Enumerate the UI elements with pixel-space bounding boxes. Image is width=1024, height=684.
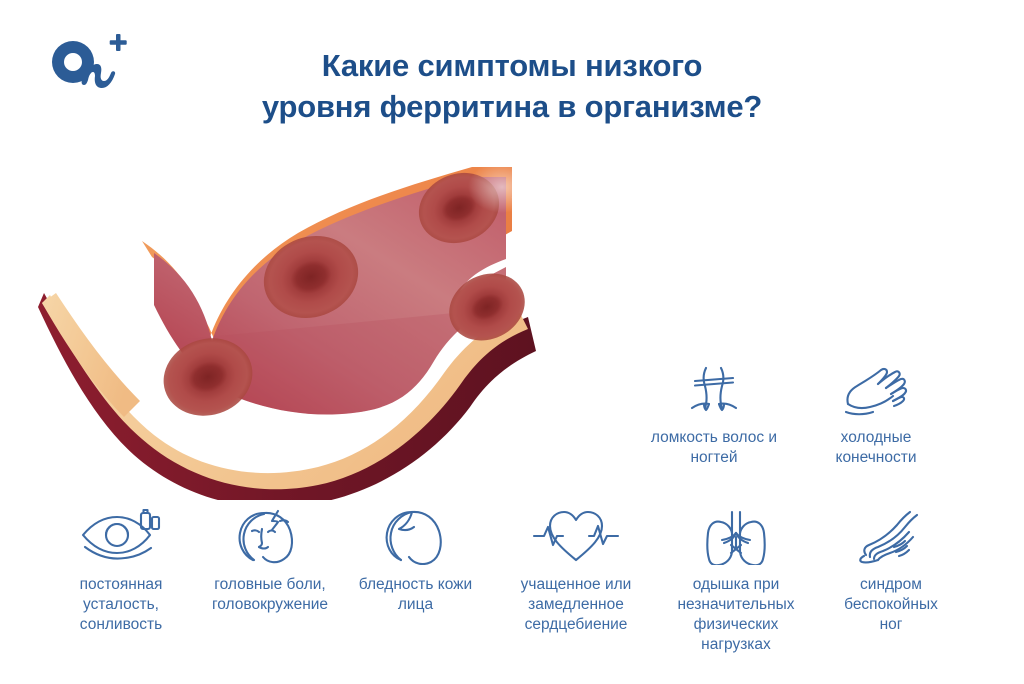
symptom-pale-facial-skin[interactable]: бледность кожи лица <box>338 505 493 615</box>
symptom-label-line-1: бледность кожи <box>338 575 493 595</box>
symptom-label-line-4: нагрузках <box>653 635 819 655</box>
symptom-label: постоянная усталость, сонливость <box>42 575 200 635</box>
symptom-cold-extremities[interactable]: холодные конечности <box>800 358 952 468</box>
head-pain-icon <box>190 505 350 567</box>
restless-leg-icon <box>812 505 970 567</box>
symptom-label: головные боли, головокружение <box>190 575 350 615</box>
symptom-label-line-2: усталость, <box>42 595 200 615</box>
page-title-line-1: Какие симптомы низкого <box>180 46 844 87</box>
rubbing-hands-icon <box>800 358 952 420</box>
symptom-label: бледность кожи лица <box>338 575 493 615</box>
symptom-label: холодные конечности <box>800 428 952 468</box>
symptom-label-line-1: ломкость волос и <box>638 428 790 448</box>
symptom-label: одышка при незначительных физических наг… <box>653 575 819 656</box>
symptom-constant-fatigue[interactable]: постоянная усталость, сонливость <box>42 505 200 635</box>
symptom-label-line-2: конечности <box>800 448 952 468</box>
symptom-label-line-3: физических <box>653 615 819 635</box>
page-title: Какие симптомы низкого уровня ферритина … <box>180 46 844 128</box>
symptom-label-line-3: ног <box>812 615 970 635</box>
symptom-label-line-2: ногтей <box>638 448 790 468</box>
symptom-restless-legs[interactable]: синдром беспокойных ног <box>812 505 970 635</box>
symptom-label-line-2: замедленное <box>490 595 662 615</box>
hair-strands-icon <box>638 358 790 420</box>
symptom-label-line-1: головные боли, <box>190 575 350 595</box>
symptom-label-line-3: сердцебиение <box>490 615 662 635</box>
vessel-highlight <box>468 161 536 213</box>
heart-pulse-icon <box>490 505 662 567</box>
symptom-label: учащенное или замедленное сердцебиение <box>490 575 662 635</box>
pale-face-icon <box>338 505 493 567</box>
symptom-shortness-of-breath[interactable]: одышка при незначительных физических наг… <box>653 505 819 656</box>
eye-battery-icon <box>42 505 200 567</box>
symptom-label-line-1: холодные <box>800 428 952 448</box>
symptom-label-line-1: постоянная <box>42 575 200 595</box>
symptom-label: синдром беспокойных ног <box>812 575 970 635</box>
symptom-label-line-3: сонливость <box>42 615 200 635</box>
symptom-label-line-2: лица <box>338 595 493 615</box>
symptom-label-line-2: беспокойных <box>812 595 970 615</box>
symptom-label-line-2: незначительных <box>653 595 819 615</box>
symptom-label-line-1: учащенное или <box>490 575 662 595</box>
symptom-headache-dizziness[interactable]: головные боли, головокружение <box>190 505 350 615</box>
logo-plus-horizontal <box>110 40 127 45</box>
blood-vessel-illustration <box>36 155 576 500</box>
symptom-heartbeat-irregular[interactable]: учащенное или замедленное сердцебиение <box>490 505 662 635</box>
on-plus-logo[interactable] <box>40 30 150 100</box>
symptom-label-line-2: головокружение <box>190 595 350 615</box>
symptom-label-line-1: одышка при <box>653 575 819 595</box>
symptom-label: ломкость волос и ногтей <box>638 428 790 468</box>
page-title-line-2: уровня ферритина в организме? <box>180 87 844 128</box>
symptom-brittle-hair-nails[interactable]: ломкость волос и ногтей <box>638 358 790 468</box>
lungs-icon <box>653 505 819 567</box>
symptom-label-line-1: синдром <box>812 575 970 595</box>
